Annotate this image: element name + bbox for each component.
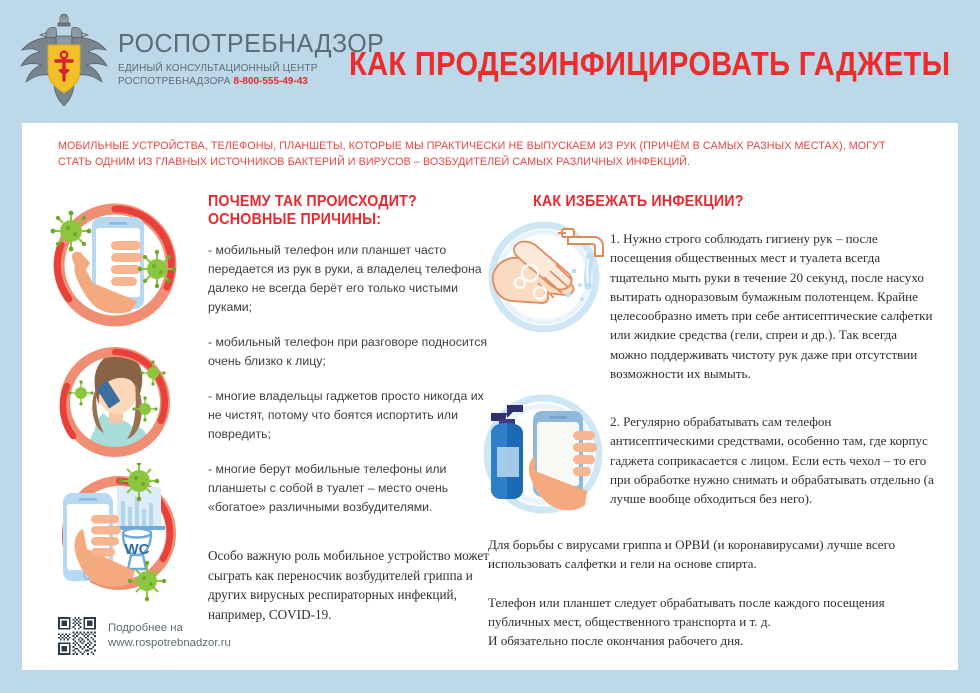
left-bullet-list: - мобильный телефон или планшет часто пе…: [208, 241, 494, 533]
left-heading-line2: ОСНОВНЫЕ ПРИЧИНЫ:: [208, 211, 484, 229]
poster-header: РОСПОТРЕБНАДЗОР ЕДИНЫЙ КОНСУЛЬТАЦИОННЫЙ …: [0, 0, 980, 123]
advice-item-2: 2. Регулярно обрабатывать сам телефон ан…: [610, 412, 936, 508]
list-item: - мобильный телефон при разговоре поднос…: [208, 333, 494, 371]
right-closing-1: Для борьбы с вирусами гриппа и ОРВИ (и к…: [488, 535, 940, 574]
woman-talking-on-phone-with-viruses-illustration: [35, 331, 195, 473]
list-item: - многие владельцы гаджетов просто никог…: [208, 387, 494, 444]
spray-bottle-and-phone-illustration: [477, 383, 609, 525]
brand-subtitle: ЕДИНЫЙ КОНСУЛЬТАЦИОННЫЙ ЦЕНТР РОСПОТРЕБН…: [118, 62, 337, 88]
brand-subtitle-line2: РОСПОТРЕБНАДЗОРА: [118, 75, 231, 87]
content-panel: МОБИЛЬНЫЕ УСТРОЙСТВА, ТЕЛЕФОНЫ, ПЛАНШЕТЫ…: [22, 123, 958, 670]
footer-line1: Подробнее на: [108, 621, 231, 636]
left-closing-paragraph: Особо важную роль мобильное устройство м…: [208, 546, 500, 624]
footer-text: Подробнее на www.rospotrebnadzor.ru: [108, 621, 231, 651]
advice-item-1: 1. Нужно строго соблюдать гигиену рук – …: [610, 229, 936, 383]
phone-in-toilet-wc-with-viruses-illustration: WC: [35, 463, 200, 608]
hotline-phone: 8-800-555-49-43: [234, 75, 308, 87]
poster-root: РОСПОТРЕБНАДЗОР ЕДИНЫЙ КОНСУЛЬТАЦИОННЫЙ …: [0, 0, 980, 693]
hands-washing-under-faucet-illustration: [482, 215, 610, 337]
list-item: - многие берут мобильные телефоны или пл…: [208, 460, 494, 517]
qr-code[interactable]: [58, 617, 96, 655]
right-closing-2: Телефон или планшет следует обрабатывать…: [488, 593, 940, 651]
intro-paragraph: МОБИЛЬНЫЕ УСТРОЙСТВА, ТЕЛЕФОНЫ, ПЛАНШЕТЫ…: [58, 139, 889, 170]
brand-subtitle-line1: ЕДИНЫЙ КОНСУЛЬТАЦИОННЫЙ ЦЕНТР: [118, 62, 337, 75]
rospotrebnadzor-eagle-emblem: [12, 14, 116, 114]
right-column-heading: КАК ИЗБЕЖАТЬ ИНФЕКЦИИ?: [533, 193, 837, 211]
footer: Подробнее на www.rospotrebnadzor.ru: [58, 617, 231, 655]
wc-label: WC: [125, 541, 150, 558]
footer-link[interactable]: www.rospotrebnadzor.ru: [108, 636, 231, 651]
left-closing-text: Особо важную роль мобильное устройство м…: [208, 546, 500, 624]
brand-name: РОСПОТРЕБНАДЗОР: [118, 30, 339, 56]
left-column-heading: ПОЧЕМУ ТАК ПРОИСХОДИТ? ОСНОВНЫЕ ПРИЧИНЫ:: [208, 193, 484, 229]
hand-holding-phone-with-viruses-illustration: [35, 195, 195, 335]
left-heading-line1: ПОЧЕМУ ТАК ПРОИСХОДИТ?: [208, 193, 484, 211]
list-item: - мобильный телефон или планшет часто пе…: [208, 241, 494, 317]
brand-block: РОСПОТРЕБНАДЗОР ЕДИНЫЙ КОНСУЛЬТАЦИОННЫЙ …: [118, 30, 348, 88]
page-title: КАК ПРОДЕЗИНФИЦИРОВАТЬ ГАДЖЕТЫ: [349, 47, 950, 80]
right-closing-paragraphs: Для борьбы с вирусами гриппа и ОРВИ (и к…: [488, 535, 940, 650]
